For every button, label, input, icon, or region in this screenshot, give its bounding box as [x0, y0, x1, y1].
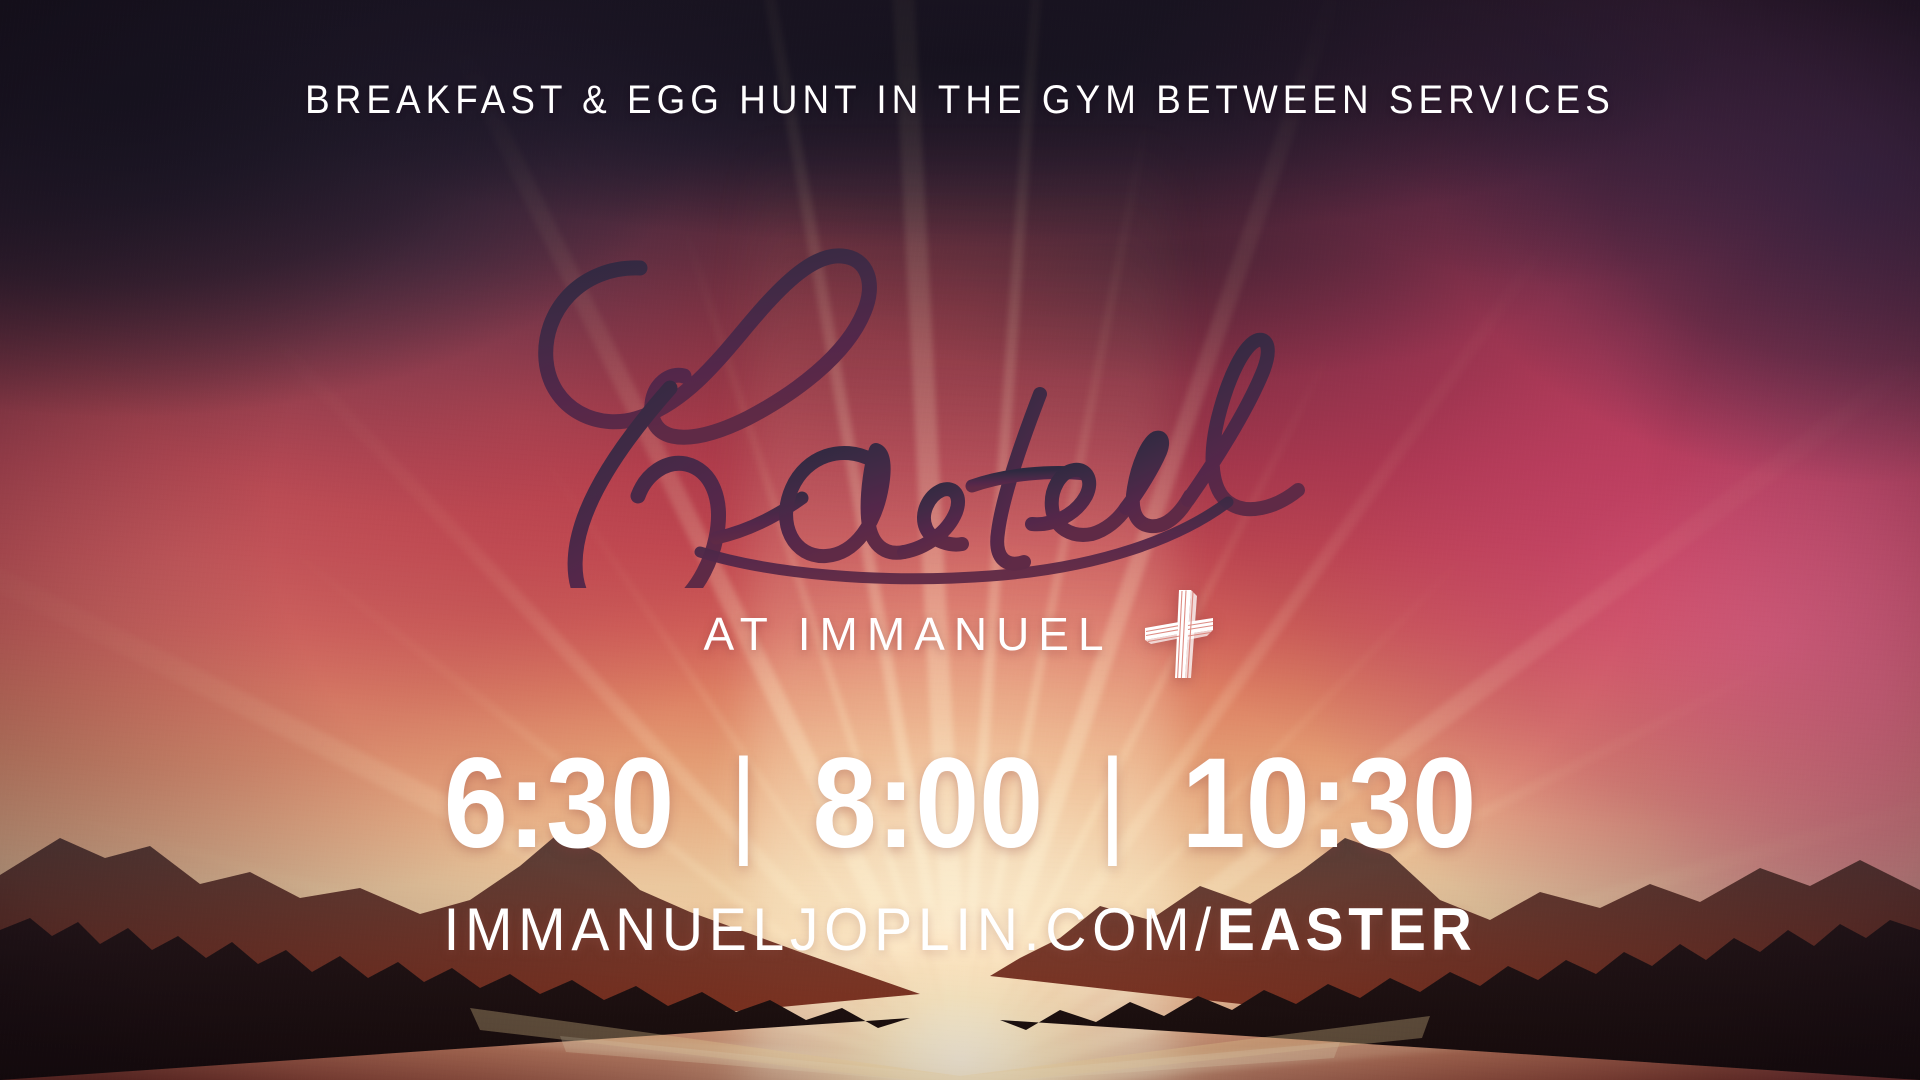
- service-time-1: 6:30: [444, 732, 675, 875]
- lcms-cross-icon: [1139, 588, 1217, 680]
- website-url[interactable]: IMMANUELJOPLIN.COM/EASTER: [48, 895, 1872, 964]
- easter-promo-slide: BREAKFAST & EGG HUNT IN THE GYM BETWEEN …: [0, 0, 1920, 1080]
- easter-wordmark: [0, 208, 1920, 588]
- headline-text: BREAKFAST & EGG HUNT IN THE GYM BETWEEN …: [77, 78, 1843, 123]
- time-separator-1: |: [706, 735, 780, 867]
- subtitle-text: AT IMMANUEL: [703, 607, 1112, 661]
- subtitle-row: AT IMMANUEL: [0, 588, 1920, 680]
- time-separator-2: |: [1075, 735, 1149, 867]
- url-domain: IMMANUELJOPLIN.COM/: [443, 896, 1216, 963]
- service-time-3: 10:30: [1182, 732, 1477, 875]
- service-time-2: 8:00: [813, 732, 1044, 875]
- service-times-row: 6:30 | 8:00 | 10:30: [96, 740, 1824, 868]
- easter-script-lettering: [520, 208, 1400, 588]
- url-path: EASTER: [1217, 896, 1477, 963]
